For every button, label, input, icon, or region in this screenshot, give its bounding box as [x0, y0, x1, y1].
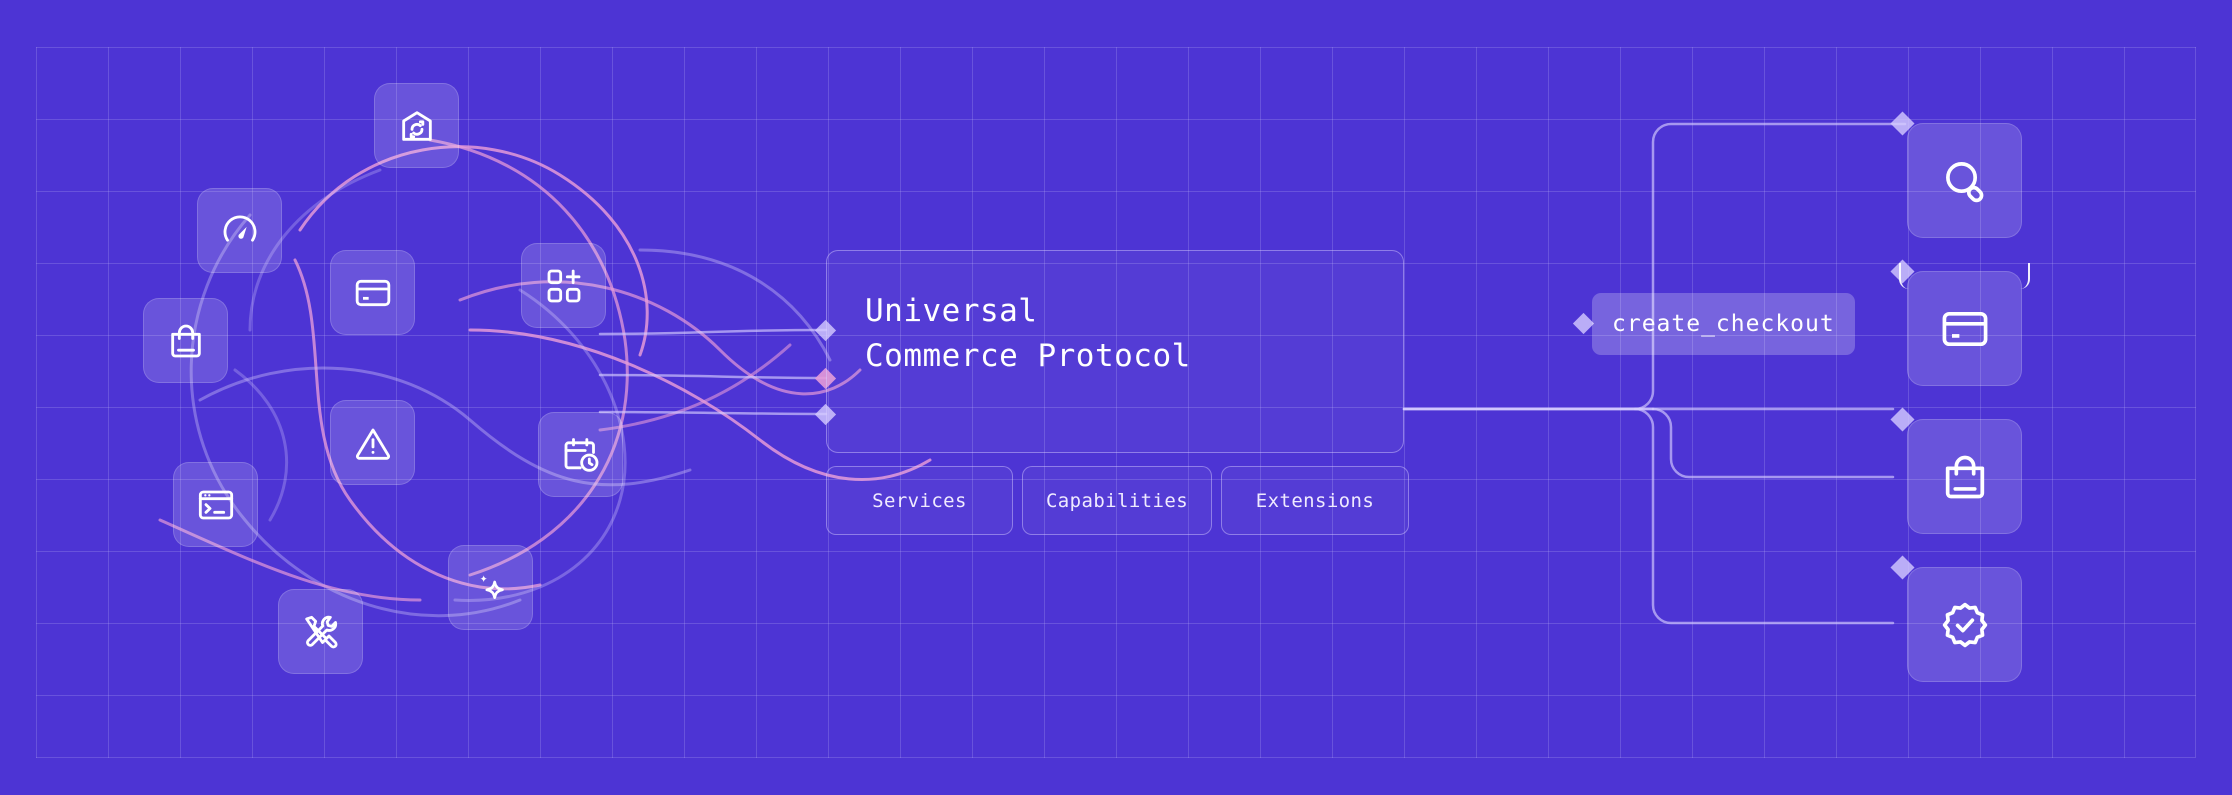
- sparkles-icon: [471, 568, 511, 608]
- page-title: Universal Commerce Protocol: [865, 289, 1403, 379]
- node-tools[interactable]: [278, 589, 363, 674]
- gauge-icon: [220, 211, 260, 251]
- tab-services-label: Services: [872, 490, 967, 512]
- node-store-refresh[interactable]: [374, 83, 459, 168]
- node-terminal[interactable]: [173, 462, 258, 547]
- credit-card-icon: [353, 273, 393, 313]
- node-alert-triangle[interactable]: [330, 400, 415, 485]
- operation-pill[interactable]: create_checkout: [1592, 293, 1855, 355]
- grid-plus-icon: [544, 266, 584, 306]
- tab-services[interactable]: Services: [826, 466, 1013, 535]
- protocol-panel: Universal Commerce Protocol: [826, 250, 1404, 453]
- node-gauge[interactable]: [197, 188, 282, 273]
- target-node-verified[interactable]: [1907, 567, 2022, 682]
- search-icon: [1939, 155, 1991, 207]
- alert-triangle-icon: [353, 423, 393, 463]
- panel-tabs: Services Capabilities Extensions: [826, 466, 1409, 535]
- node-shopping-bag-left[interactable]: [143, 298, 228, 383]
- calendar-clock-icon: [561, 435, 601, 475]
- node-grid-plus[interactable]: [521, 243, 606, 328]
- protocol-diagram-canvas: Universal Commerce Protocol Services Cap…: [0, 0, 2232, 795]
- target-node-credit-card[interactable]: [1907, 271, 2022, 386]
- target-node-search[interactable]: [1907, 123, 2022, 238]
- operation-label: create_checkout: [1612, 311, 1835, 337]
- node-calendar-clock[interactable]: [538, 412, 623, 497]
- tab-extensions[interactable]: Extensions: [1221, 466, 1409, 535]
- tab-capabilities-label: Capabilities: [1046, 490, 1188, 512]
- tools-icon: [301, 612, 341, 652]
- shopping-bag-icon: [1939, 451, 1991, 503]
- target-node-shopping-bag[interactable]: [1907, 419, 2022, 534]
- tab-capabilities[interactable]: Capabilities: [1022, 466, 1212, 535]
- terminal-icon: [196, 485, 236, 525]
- verified-badge-icon: [1939, 599, 1991, 651]
- store-refresh-icon: [397, 106, 437, 146]
- node-credit-card-left[interactable]: [330, 250, 415, 335]
- credit-card-icon: [1939, 303, 1991, 355]
- shopping-bag-icon: [166, 321, 206, 361]
- tab-extensions-label: Extensions: [1256, 490, 1374, 512]
- node-sparkles[interactable]: [448, 545, 533, 630]
